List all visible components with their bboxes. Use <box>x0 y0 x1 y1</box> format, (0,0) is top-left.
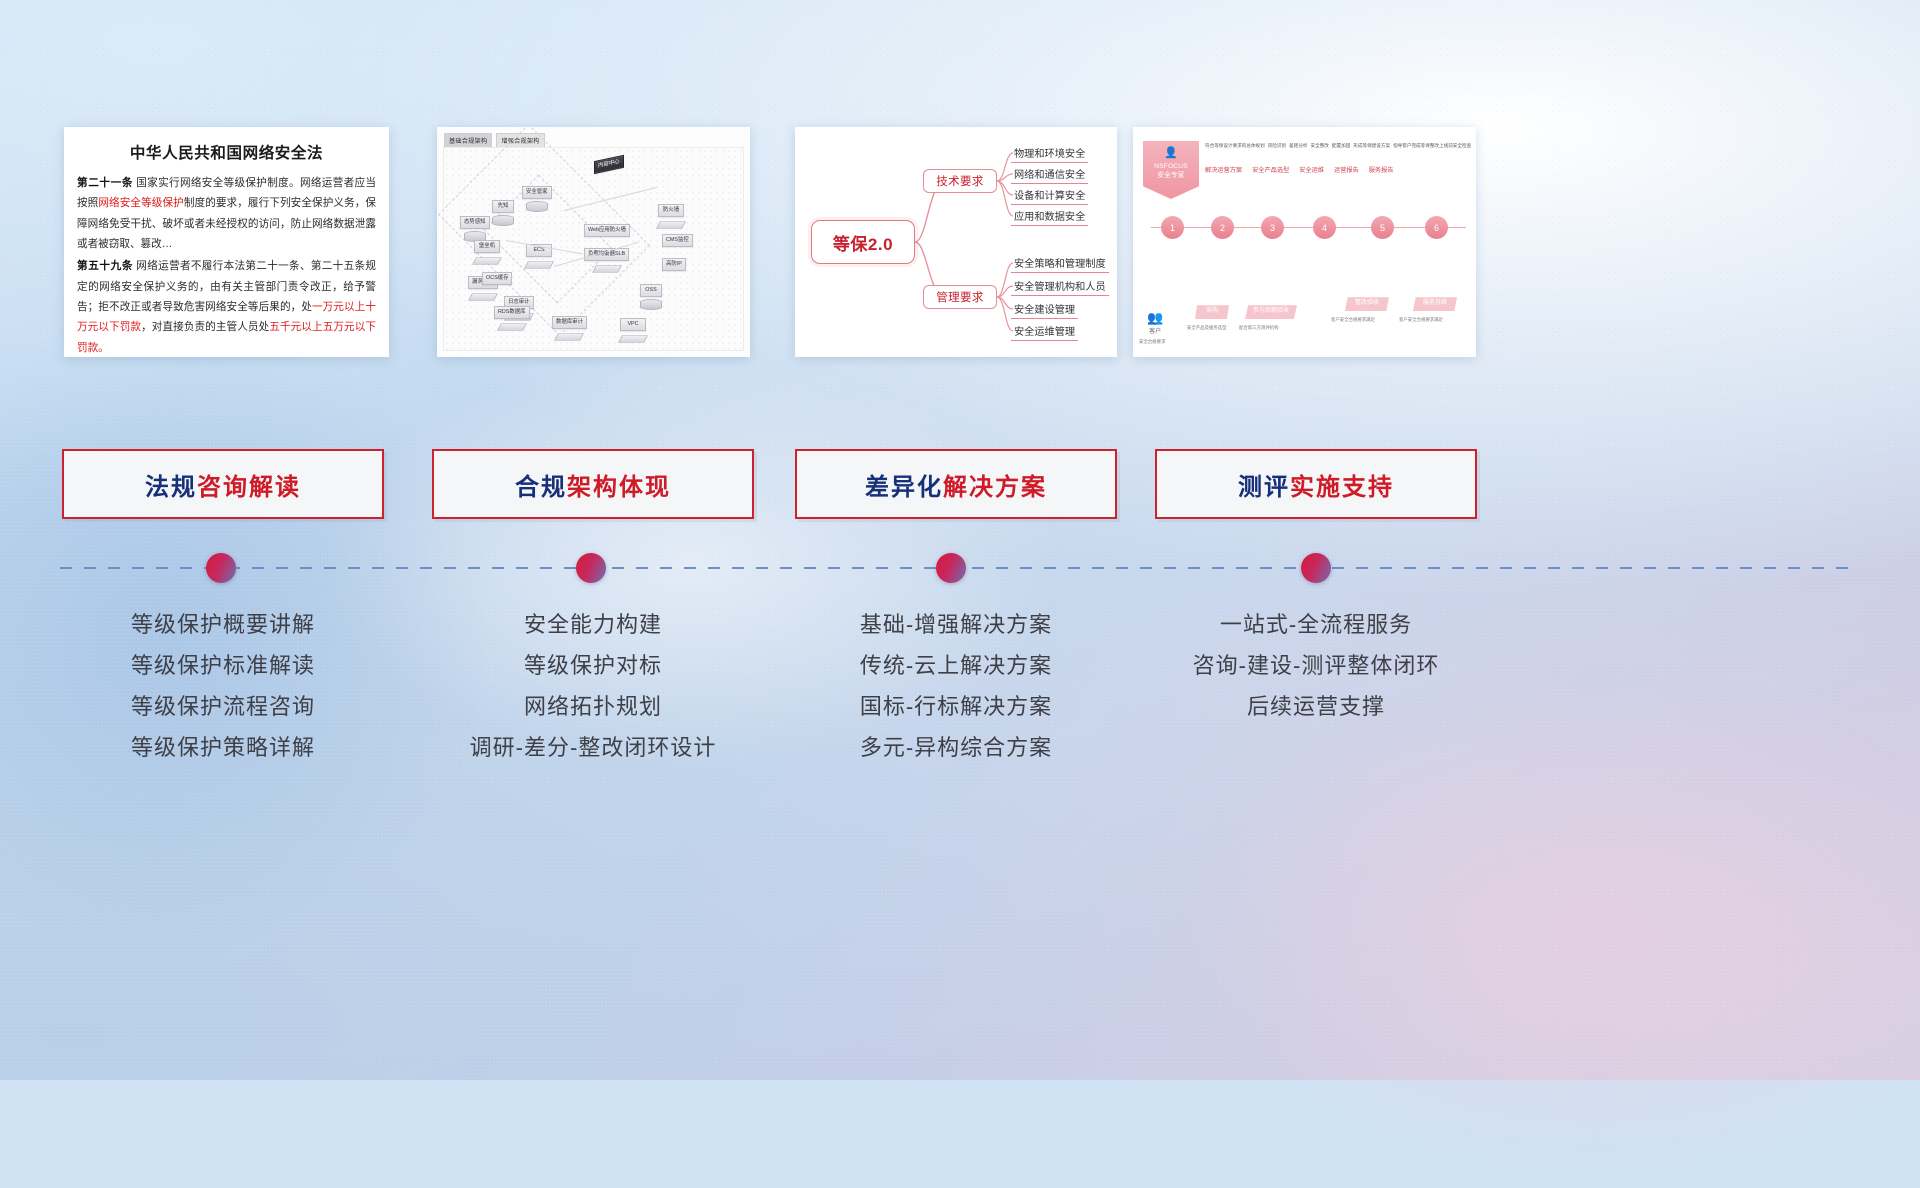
nsfocus-step-4: 4 <box>1313 216 1336 239</box>
article-21-highlight: 网络安全等级保护 <box>98 197 183 209</box>
plate-shape <box>524 261 554 268</box>
headline-text: 法规咨询解读 <box>145 467 301 502</box>
arch-node-waf: Web应用防火墙 <box>584 224 630 237</box>
nsfocus-top-labels: 符合等保设计要求的总体规划 风险识别 差距分析 安全整改 配置加固 形成等保建设… <box>1205 143 1470 149</box>
nsfocus-customer-sub: 安全合规要求 <box>1139 339 1165 345</box>
nsfocus-pill-service-sub: 客户安全合规要求满足 <box>1399 317 1443 323</box>
nsfocus-step-1: 1 <box>1161 216 1184 239</box>
list-item: 后续运营支撑 <box>1155 687 1477 728</box>
list-item: 等级保护对标 <box>432 646 754 687</box>
nsfocus-phase-chips: 解决运营方案 安全产品选型 安全运维 运营报告 服务报告 <box>1205 165 1470 174</box>
nsfocus-top-label-3: 安全整改 <box>1311 143 1329 149</box>
list-item: 等级保护概要讲解 <box>62 605 384 646</box>
nsfocus-top-label-0: 符合等保设计要求的总体规划 <box>1205 143 1265 149</box>
list-item: 国标-行标解决方案 <box>795 687 1117 728</box>
mindmap-diagram: 等保2.0 技术要求 管理要求 物理和环境安全 网络和通信安全 设备和计算安全 … <box>795 127 1117 357</box>
list-item: 咨询-建设-测评整体闭环 <box>1155 646 1477 687</box>
plate-shape <box>656 221 686 228</box>
nsfocus-step-5: 5 <box>1371 216 1394 239</box>
headline-1-red: 咨询解读 <box>197 474 301 501</box>
list-item: 一站式-全流程服务 <box>1155 605 1477 646</box>
list-item: 等级保护标准解读 <box>62 646 384 687</box>
architecture-canvas: 内容中心 安全管家 先知 态势感知 堡垒机 漏洞扫描 日志审计 <box>443 147 744 351</box>
tab-basic-architecture[interactable]: 基础合规架构 <box>444 133 492 148</box>
timeline-dot-3[interactable] <box>936 553 966 583</box>
arch-node-db-audit: 数据库审计 <box>552 316 587 343</box>
nsfocus-chip-0: 解决运营方案 <box>1205 165 1242 174</box>
arch-node-xianzhi: 先知 <box>492 200 514 226</box>
plate-shape <box>555 333 585 340</box>
law-title: 中华人民共和国网络安全法 <box>77 141 376 163</box>
list-item: 等级保护流程咨询 <box>62 687 384 728</box>
card-cybersecurity-law[interactable]: 中华人民共和国网络安全法 第二十一条 国家实行网络安全等级保护制度。网络运营者应… <box>64 127 389 357</box>
arch-node-ocs-cache: OCS缓存 <box>482 272 512 285</box>
nsfocus-top-label-2: 差距分析 <box>1289 143 1307 149</box>
nsfocus-expert-badge: 👤 NSFOCUS 安全专家 <box>1143 141 1199 199</box>
headline-1-blue: 法规 <box>145 474 197 501</box>
list-column-differentiated-solution: 基础-增强解决方案 传统-云上解决方案 国标-行标解决方案 多元-异构综合方案 <box>795 605 1117 769</box>
person-icon: 👤 <box>1164 146 1178 161</box>
article-21-label: 第二十一条 <box>77 177 133 189</box>
arch-node-slb: 负载均衡器SLB <box>584 248 629 275</box>
arch-node-rds: RDS数据库 <box>494 306 530 333</box>
headline-box-evaluation-support[interactable]: 测评实施支持 <box>1155 449 1477 519</box>
list-item: 等级保护策略详解 <box>62 728 384 769</box>
list-column-regulation-consulting: 等级保护概要讲解 等级保护标准解读 等级保护流程咨询 等级保护策略详解 <box>62 605 384 769</box>
nsfocus-pill-service: 服务持续 <box>1413 297 1457 311</box>
mindmap-leaf-build-mgmt: 安全建设管理 <box>1011 301 1078 319</box>
card-mindmap-dengbao[interactable]: 等保2.0 技术要求 管理要求 物理和环境安全 网络和通信安全 设备和计算安全 … <box>795 127 1117 357</box>
nsfocus-pill-acceptance-sub: 配合第三方测评机构 <box>1239 325 1279 331</box>
law-article-21: 第二十一条 国家实行网络安全等级保护制度。网络运营者应当按照网络安全等级保护制度… <box>77 173 376 254</box>
list-column-compliance-architecture: 安全能力构建 等级保护对标 网络拓扑规划 调研-差分-整改闭环设计 <box>432 605 754 769</box>
nsfocus-customer-badge: 👥 客户 <box>1147 310 1163 335</box>
plate-shape <box>468 293 498 300</box>
arch-node-vpc: VPC <box>620 318 646 345</box>
arch-node-situational-awareness: 态势感知 <box>460 216 490 242</box>
mindmap-branch-technical[interactable]: 技术要求 <box>923 169 997 193</box>
mindmap-leaf-network-comm: 网络和通信安全 <box>1011 166 1088 184</box>
headline-3-blue: 差异化 <box>865 474 943 501</box>
mindmap-leaf-org-personnel: 安全管理机构和人员 <box>1011 278 1109 296</box>
plate-shape <box>618 335 648 342</box>
mindmap-leaf-policy-system: 安全策略和管理制度 <box>1011 255 1109 273</box>
headline-text: 差异化解决方案 <box>865 467 1047 502</box>
list-item: 基础-增强解决方案 <box>795 605 1117 646</box>
headline-box-compliance-architecture[interactable]: 合规架构体现 <box>432 449 754 519</box>
timeline-dot-1[interactable] <box>206 553 236 583</box>
card-nsfocus-service-flow[interactable]: 👤 NSFOCUS 安全专家 符合等保设计要求的总体规划 风险识别 差距分析 安… <box>1133 127 1476 357</box>
law-text-body: 中华人民共和国网络安全法 第二十一条 国家实行网络安全等级保护制度。网络运营者应… <box>64 127 389 357</box>
architecture-diagram: 基础合规架构 增强合规架构 内容中心 安全管家 先知 态势感知 <box>437 127 750 357</box>
nsfocus-pill-rectify: 整改验收 <box>1345 297 1389 311</box>
nsfocus-chip-4: 服务报告 <box>1369 165 1394 174</box>
nsfocus-top-label-1: 风险识别 <box>1268 143 1286 149</box>
headline-2-red: 架构体现 <box>567 474 671 501</box>
plate-shape <box>592 265 622 272</box>
nsfocus-customer-label: 客户 <box>1149 329 1161 335</box>
headline-box-differentiated-solution[interactable]: 差异化解决方案 <box>795 449 1117 519</box>
plate-shape <box>497 323 527 330</box>
headline-3-red: 解决方案 <box>943 474 1047 501</box>
mindmap-leaf-device-compute: 设备和计算安全 <box>1011 187 1088 205</box>
headline-box-regulation-consulting[interactable]: 法规咨询解读 <box>62 449 384 519</box>
nsfocus-brand-sub: 安全专家 <box>1157 172 1184 179</box>
nsfocus-axis-line <box>1151 227 1466 228</box>
nsfocus-chip-3: 运营报告 <box>1334 165 1359 174</box>
nsfocus-chip-1: 安全产品选型 <box>1252 165 1289 174</box>
headline-4-red: 实施支持 <box>1290 474 1394 501</box>
cylinder-shape <box>526 201 548 212</box>
headline-2-blue: 合规 <box>515 474 567 501</box>
nsfocus-timeline-diagram: 👤 NSFOCUS 安全专家 符合等保设计要求的总体规划 风险识别 差距分析 安… <box>1133 127 1476 357</box>
list-item: 传统-云上解决方案 <box>795 646 1117 687</box>
list-column-evaluation-support: 一站式-全流程服务 咨询-建设-测评整体闭环 后续运营支撑 <box>1155 605 1477 728</box>
nsfocus-top-label-6: 指导客户完成等保整改上线前安全检查 <box>1393 143 1471 149</box>
arch-node-bastion-host: 堡垒机 <box>474 240 500 267</box>
arch-node-oss: OSS <box>640 284 662 310</box>
article-59-label: 第五十九条 <box>77 260 133 272</box>
nsfocus-step-6: 6 <box>1425 216 1448 239</box>
list-item: 安全能力构建 <box>432 605 754 646</box>
plate-shape <box>472 257 502 264</box>
headline-text: 测评实施支持 <box>1238 467 1394 502</box>
nsfocus-pill-rectify-sub: 客户安全合规要求满足 <box>1331 317 1375 323</box>
arch-node-security-butler: 安全管家 <box>522 186 552 212</box>
nsfocus-top-label-5: 形成等保建设方案 <box>1353 143 1390 149</box>
nsfocus-pill-purchase: 采购 <box>1195 305 1229 319</box>
nsfocus-step-2: 2 <box>1211 216 1234 239</box>
nsfocus-pill-acceptance: 参与后期验收 <box>1245 305 1297 319</box>
cylinder-shape <box>492 215 514 226</box>
list-item: 多元-异构综合方案 <box>795 728 1117 769</box>
list-item: 调研-差分-整改闭环设计 <box>432 728 754 769</box>
list-item: 网络拓扑规划 <box>432 687 754 728</box>
timeline-dot-2[interactable] <box>576 553 606 583</box>
nsfocus-step-3: 3 <box>1261 216 1284 239</box>
arch-node-anti-ddos-ip: 高防IP <box>662 258 686 271</box>
timeline-dot-4[interactable] <box>1301 553 1331 583</box>
nsfocus-top-label-4: 配置加固 <box>1332 143 1350 149</box>
law-article-59: 第五十九条 网络运营者不履行本法第二十一条、第二十五条规定的网络安全保护义务的，… <box>77 256 376 357</box>
mindmap-leaf-physical-env: 物理和环境安全 <box>1011 145 1088 163</box>
mindmap-leaf-ops-mgmt: 安全运维管理 <box>1011 323 1078 341</box>
mindmap-leaf-app-data: 应用和数据安全 <box>1011 208 1088 226</box>
arch-node-content-center: 内容中心 <box>594 155 624 174</box>
mindmap-root-node[interactable]: 等保2.0 <box>811 220 915 264</box>
nsfocus-pill-purchase-sub: 安全产品及服务选型 <box>1187 325 1227 331</box>
slide-stage: 中华人民共和国网络安全法 第二十一条 国家实行网络安全等级保护制度。网络运营者应… <box>0 0 1920 1080</box>
customer-icon: 👥 <box>1147 310 1163 326</box>
headline-text: 合规架构体现 <box>515 467 671 502</box>
arch-node-cms-monitor: CMS监控 <box>662 234 693 247</box>
cylinder-shape <box>640 299 662 310</box>
card-compliance-architecture[interactable]: 基础合规架构 增强合规架构 内容中心 安全管家 先知 态势感知 <box>437 127 750 357</box>
nsfocus-chip-2: 安全运维 <box>1299 165 1324 174</box>
arch-node-firewall: 防火墙 <box>658 204 684 231</box>
nsfocus-brand: NSFOCUS <box>1154 163 1188 170</box>
mindmap-branch-management[interactable]: 管理要求 <box>923 285 997 309</box>
headline-4-blue: 测评 <box>1238 474 1290 501</box>
article-59-text-b: ，对直接负责的主管人员处 <box>141 321 269 333</box>
